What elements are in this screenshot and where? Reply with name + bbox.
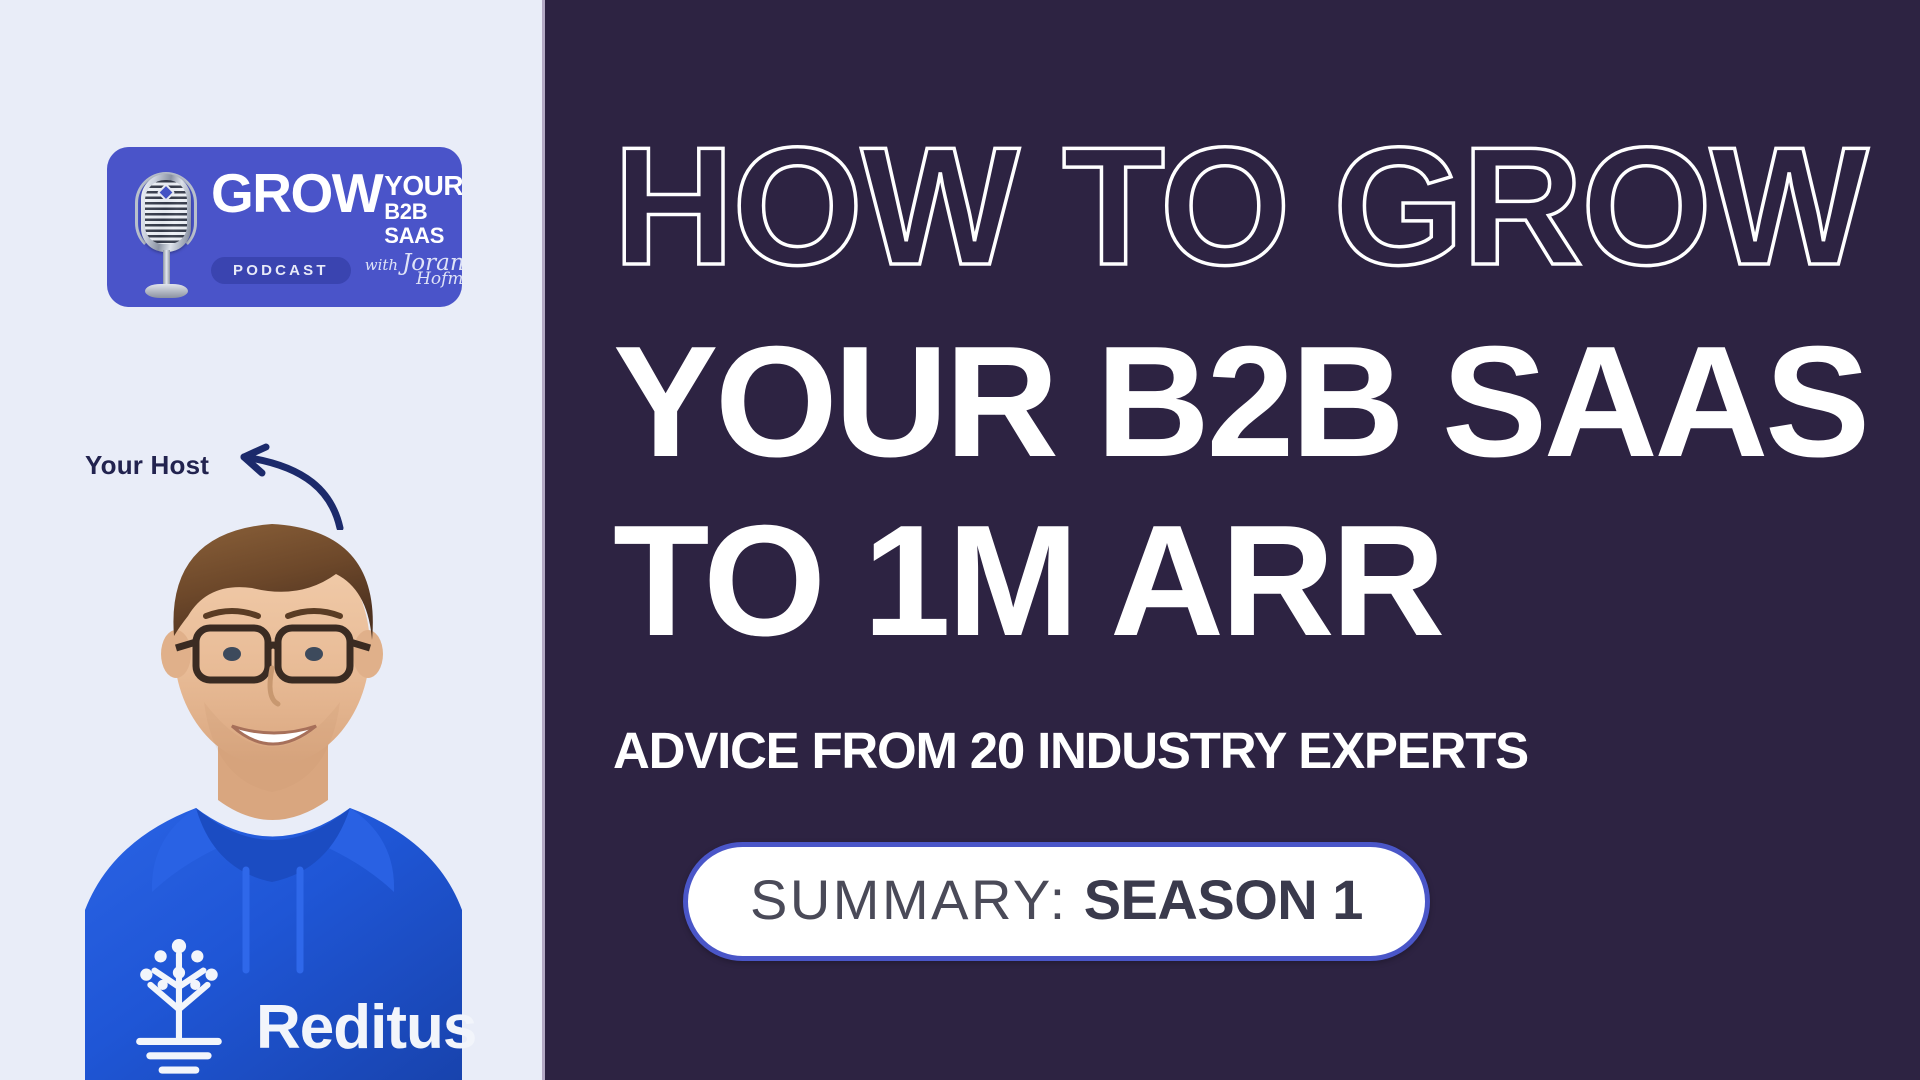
left-panel: GROW YOUR B2B SAAS PODCAST with Joran Ho… (0, 0, 545, 1080)
headline-block: HOW TO GROW YOUR B2B SAAS TO 1M ARR ADVI… (545, 128, 1920, 780)
title-line-1: HOW TO GROW (613, 128, 1920, 284)
host-portrait: Reditus (0, 440, 545, 1080)
summary-pill-row: SUMMARY: SEASON 1 (545, 842, 1920, 961)
podcast-logo-text: GROW YOUR B2B SAAS PODCAST with Joran Ho… (211, 168, 462, 286)
microphone-base (145, 284, 188, 298)
logo-word-grow: GROW (211, 168, 382, 219)
cover-stage: GROW YOUR B2B SAAS PODCAST with Joran Ho… (0, 0, 1920, 1080)
hoodie-brand-text: Reditus (256, 993, 476, 1062)
logo-host-signature: with Joran Hofman (365, 254, 462, 286)
logo-meta-row: PODCAST with Joran Hofman (211, 254, 462, 286)
portrait-illustration: Reditus (0, 440, 545, 1080)
logo-host-name: Joran Hofman (402, 254, 462, 286)
summary-pill-value: SEASON 1 (1084, 867, 1363, 932)
logo-host-prefix: with (365, 256, 398, 274)
logo-word-stack: YOUR B2B SAAS (384, 168, 462, 248)
podcast-badge: PODCAST (211, 257, 351, 284)
summary-pill-label: SUMMARY: (750, 867, 1068, 932)
title-line-3: TO 1M ARR (613, 501, 1920, 662)
logo-word-b2b-saas: B2B SAAS (384, 200, 462, 248)
retro-microphone-icon (125, 152, 207, 302)
logo-host-name-last: Hofman (416, 272, 462, 286)
title-line-2: YOUR B2B SAAS (613, 322, 1920, 483)
logo-word-your: YOUR (384, 172, 462, 200)
right-panel: HOW TO GROW YOUR B2B SAAS TO 1M ARR ADVI… (545, 0, 1920, 1080)
subtitle: ADVICE FROM 20 INDUSTRY EXPERTS (613, 721, 1920, 780)
logo-wordmark-row: GROW YOUR B2B SAAS (211, 168, 462, 248)
summary-pill[interactable]: SUMMARY: SEASON 1 (683, 842, 1430, 961)
microphone-stem (163, 250, 170, 288)
podcast-logo-badge[interactable]: GROW YOUR B2B SAAS PODCAST with Joran Ho… (107, 147, 462, 307)
